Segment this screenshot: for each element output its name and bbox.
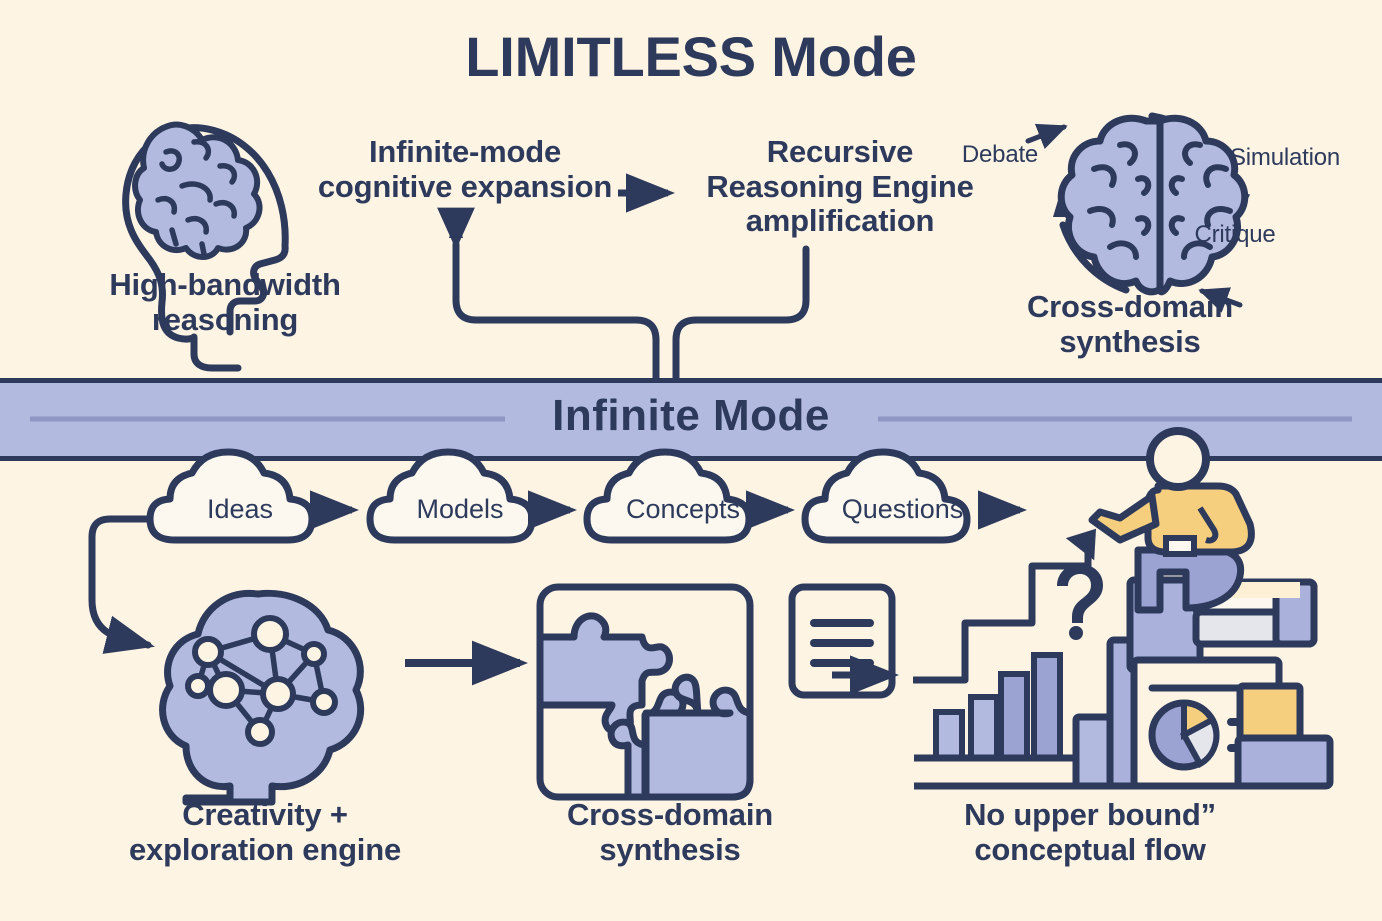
caption-cross-domain-synthesis-bottom: Cross-domain synthesis: [510, 798, 830, 867]
cloud-label-ideas: Ideas: [160, 494, 320, 525]
puzzle-pieces-icon: [540, 587, 750, 797]
caption-line-1: No upper bound”: [964, 797, 1216, 832]
label-recursive-reasoning-engine: Recursive Reasoning Engine amplification: [700, 135, 980, 239]
caption-creativity-exploration-engine: Creativity + exploration engine: [100, 798, 430, 867]
cloud-label-concepts: Concepts: [598, 494, 768, 525]
caption-line-2: synthesis: [599, 832, 740, 867]
document-lines-icon: [792, 587, 892, 695]
diagram-artwork: .ink{fill:none;stroke:#2d3a5c;} .fillink…: [0, 0, 1382, 921]
label-critique: Critique: [1170, 222, 1300, 249]
label-debate: Debate: [940, 142, 1060, 169]
banner-label: Infinite Mode: [0, 391, 1382, 440]
caption-line-1: Cross-domain: [567, 797, 773, 832]
caption-line-2: conceptual flow: [974, 832, 1205, 867]
label-simulation: Simulation: [1200, 145, 1370, 172]
label-infinite-mode-cognitive-expansion: Infinite-mode cognitive expansion: [300, 135, 630, 204]
cloud-label-models: Models: [380, 494, 540, 525]
caption-line-1: Creativity +: [182, 797, 348, 832]
cloud-label-questions: Questions: [815, 494, 990, 525]
page-title: LIMITLESS Mode: [0, 26, 1382, 89]
caption-cross-domain-synthesis-top: Cross-domain synthesis: [1000, 290, 1260, 359]
caption-high-bandwidth-reasoning: High-bandwidth reasoning: [60, 268, 390, 337]
infographic-canvas: .ink{fill:none;stroke:#2d3a5c;} .fillink…: [0, 0, 1382, 921]
caption-no-upper-bound-conceptual-flow: No upper bound” conceptual flow: [880, 798, 1300, 867]
pie-chart: [1152, 703, 1216, 767]
caption-line-2: exploration engine: [129, 832, 401, 867]
